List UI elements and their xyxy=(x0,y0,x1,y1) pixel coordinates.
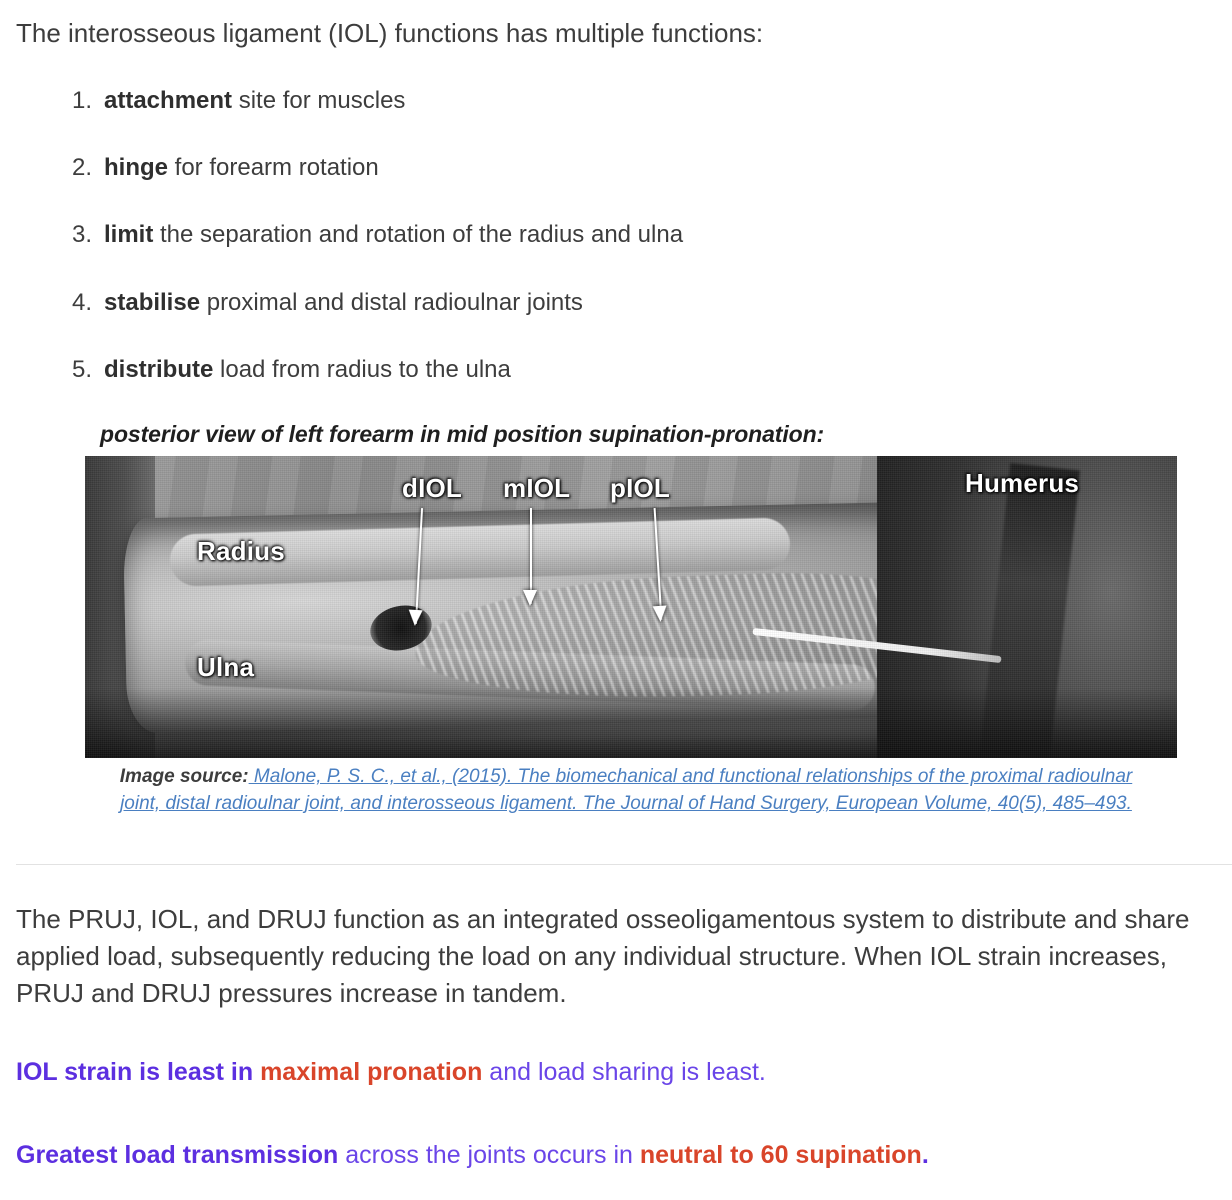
functions-list: attachment site for muscles hinge for fo… xyxy=(0,85,1232,385)
highlight-1-part-a: IOL strain is least in xyxy=(16,1058,260,1086)
highlight-2-part-b: across the joints occurs in xyxy=(338,1141,640,1169)
list-item-text: site for muscles xyxy=(232,87,405,114)
anatomy-figure: posterior view of left forearm in mid po… xyxy=(0,421,1232,818)
list-item-text: for forearm rotation xyxy=(168,154,379,181)
highlight-line-2: Greatest load transmission across the jo… xyxy=(0,1139,1232,1173)
list-item-keyword: hinge xyxy=(104,154,168,181)
intro-paragraph: The interosseous ligament (IOL) function… xyxy=(0,0,1232,51)
list-item-text: load from radius to the ulna xyxy=(213,356,511,383)
highlight-2-part-c: neutral to 60 supination xyxy=(640,1141,922,1169)
list-item-text: proximal and distal radioulnar joints xyxy=(200,289,583,316)
body-paragraph: The PRUJ, IOL, and DRUJ function as an i… xyxy=(0,865,1232,1012)
highlight-2-part-a: Greatest load transmission xyxy=(16,1141,338,1169)
list-item: hinge for forearm rotation xyxy=(72,152,1212,183)
list-item-keyword: attachment xyxy=(104,87,232,114)
list-item: stabilise proximal and distal radioulnar… xyxy=(72,287,1212,318)
highlight-2-part-d: . xyxy=(922,1141,929,1169)
photo-label-piol: pIOL xyxy=(610,473,670,504)
highlight-line-1: IOL strain is least in maximal pronation… xyxy=(0,1056,1232,1090)
source-citation-link[interactable]: Malone, P. S. C., et al., (2015). The bi… xyxy=(120,766,1132,814)
list-item: distribute load from radius to the ulna xyxy=(72,354,1212,385)
list-item: attachment site for muscles xyxy=(72,85,1212,116)
list-item-keyword: stabilise xyxy=(104,289,200,316)
forearm-dissection-photo: dIOL mIOL pIOL Humerus Radius Ulna xyxy=(85,456,1177,758)
photo-label-ulna: Ulna xyxy=(197,652,254,683)
list-item-keyword: distribute xyxy=(104,356,213,383)
highlight-1-part-b: maximal pronation xyxy=(260,1058,482,1086)
source-label: Image source: xyxy=(120,766,249,787)
list-item-text: the separation and rotation of the radiu… xyxy=(153,221,683,248)
photo-label-diol: dIOL xyxy=(402,473,462,504)
photo-bottom-shadow xyxy=(85,688,1177,758)
figure-caption-top: posterior view of left forearm in mid po… xyxy=(100,421,1177,448)
highlight-1-part-c: and load sharing is least. xyxy=(482,1058,766,1086)
list-item-keyword: limit xyxy=(104,221,153,248)
list-item: limit the separation and rotation of the… xyxy=(72,219,1212,250)
photo-label-miol: mIOL xyxy=(503,473,570,504)
article-page: The interosseous ligament (IOL) function… xyxy=(0,0,1232,1200)
figure-source-caption: Image source: Malone, P. S. C., et al., … xyxy=(85,764,1177,818)
photo-label-radius: Radius xyxy=(197,536,285,567)
photo-label-humerus: Humerus xyxy=(965,468,1079,499)
